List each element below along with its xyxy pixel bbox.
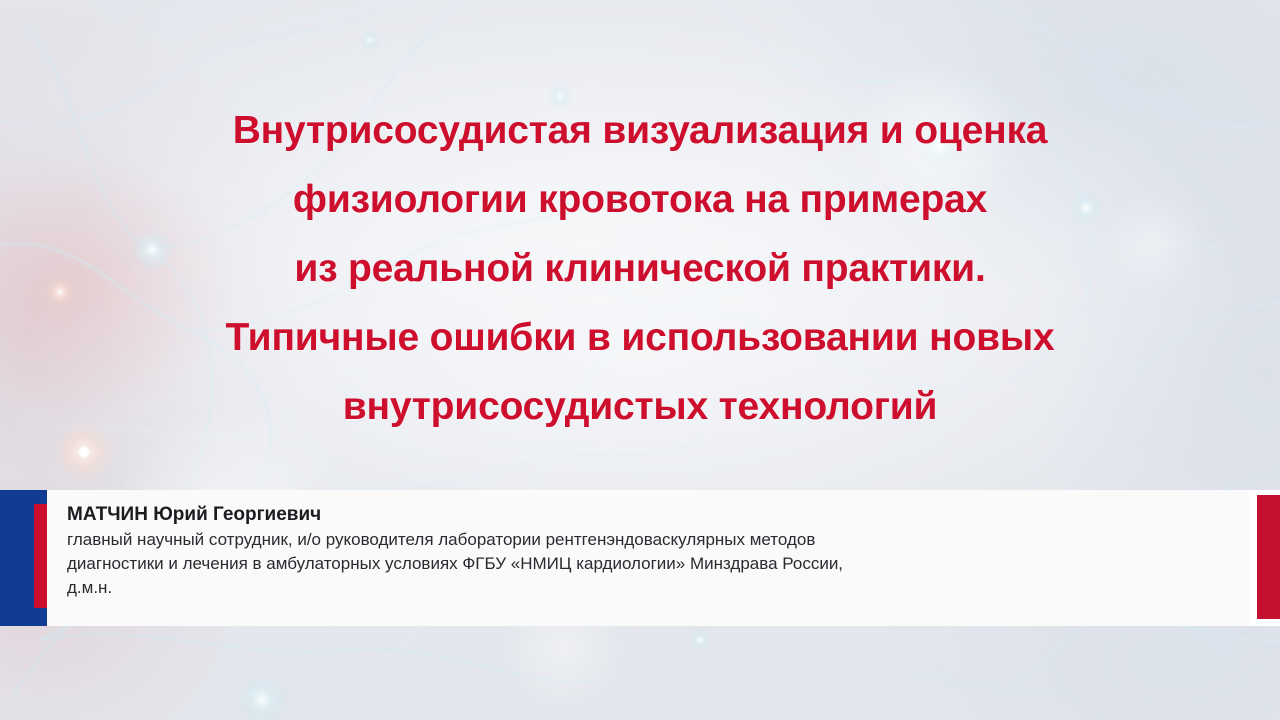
title-line-3: из реальной клинической практики.	[46, 234, 1234, 303]
speaker-description: главный научный сотрудник, и/о руководит…	[67, 528, 1231, 600]
speaker-description-line-3: д.м.н.	[67, 576, 1231, 600]
speaker-description-line-1: главный научный сотрудник, и/о руководит…	[67, 528, 1231, 552]
flag-accent-right-red	[1257, 495, 1280, 619]
slide-title: Внутрисосудистая визуализация и оценка ф…	[0, 96, 1280, 441]
title-line-4: Типичные ошибки в использовании новых	[46, 303, 1234, 372]
speaker-info: МАТЧИН Юрий Георгиевич главный научный с…	[47, 490, 1249, 626]
flag-accent-left-red	[34, 504, 47, 608]
title-line-2: физиологии кровотока на примерах	[46, 165, 1234, 234]
title-line-5: внутрисосудистых технологий	[46, 372, 1234, 441]
title-line-1: Внутрисосудистая визуализация и оценка	[46, 96, 1234, 165]
speaker-banner: МАТЧИН Юрий Георгиевич главный научный с…	[0, 490, 1280, 626]
speaker-name: МАТЧИН Юрий Георгиевич	[67, 502, 1231, 527]
flag-accent-left-blue	[0, 490, 47, 626]
presentation-slide: Внутрисосудистая визуализация и оценка ф…	[0, 0, 1280, 720]
flag-accent-right	[1249, 490, 1280, 626]
speaker-description-line-2: диагностики и лечения в амбулаторных усл…	[67, 552, 1231, 576]
